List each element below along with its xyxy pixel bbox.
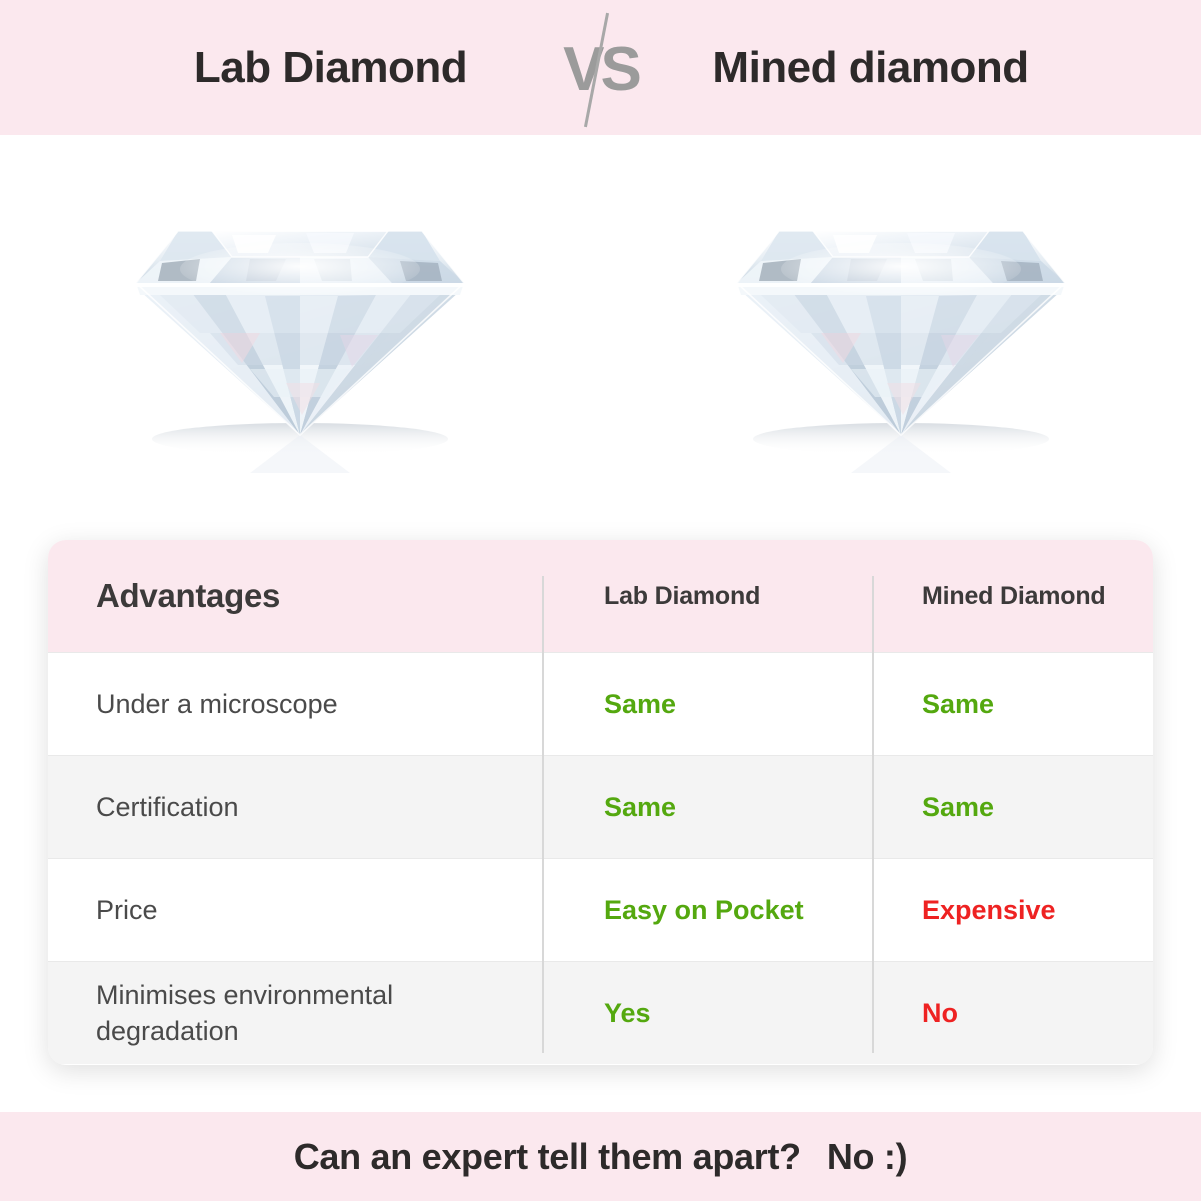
footer-answer: No :) xyxy=(827,1136,907,1178)
lab-value: Same xyxy=(604,689,676,719)
header-band: Lab Diamond VS Mined diamond xyxy=(0,0,1201,135)
feature-label: Price xyxy=(96,895,158,925)
mined-diamond-photo xyxy=(701,183,1101,483)
header-cell-mined: Mined Diamond xyxy=(872,582,1153,611)
infographic-page: Lab Diamond VS Mined diamond xyxy=(0,0,1201,1201)
comparison-table: Advantages Lab Diamond Mined Diamond Und… xyxy=(48,540,1153,1065)
row-mined-value-cell: Same xyxy=(872,792,1153,823)
table-row: Minimises environmental degradation Yes … xyxy=(48,961,1153,1064)
mined-value: Expensive xyxy=(922,895,1056,925)
row-feature-cell: Price xyxy=(48,892,542,928)
header-label-mined-diamond: Mined Diamond xyxy=(922,582,1106,610)
header-cell-lab: Lab Diamond xyxy=(542,582,872,611)
row-mined-value-cell: No xyxy=(872,998,1153,1029)
feature-label: Certification xyxy=(96,792,239,822)
row-mined-value-cell: Expensive xyxy=(872,895,1153,926)
row-feature-cell: Under a microscope xyxy=(48,686,542,722)
versus-badge: VS xyxy=(541,0,661,135)
feature-label: Minimises environmental degradation xyxy=(96,980,393,1046)
table-row: Certification Same Same xyxy=(48,755,1153,858)
header-title-lab: Lab Diamond xyxy=(121,43,541,93)
header-title-mined: Mined diamond xyxy=(661,43,1081,93)
row-lab-value-cell: Same xyxy=(542,792,872,823)
table-header-row: Advantages Lab Diamond Mined Diamond xyxy=(48,540,1153,652)
row-feature-cell: Certification xyxy=(48,789,542,825)
comparison-table-card: Advantages Lab Diamond Mined Diamond Und… xyxy=(48,540,1153,1065)
lab-diamond-image-cell xyxy=(85,163,515,503)
header-label-lab-diamond: Lab Diamond xyxy=(604,582,760,610)
mined-value: Same xyxy=(922,792,994,822)
mined-value: Same xyxy=(922,689,994,719)
row-lab-value-cell: Easy on Pocket xyxy=(542,895,872,926)
header-cell-advantages: Advantages xyxy=(48,577,542,615)
row-mined-value-cell: Same xyxy=(872,689,1153,720)
mined-diamond-image-cell xyxy=(686,163,1116,503)
row-feature-cell: Minimises environmental degradation xyxy=(48,977,542,1050)
table-row: Under a microscope Same Same xyxy=(48,652,1153,755)
diamond-comparison-images xyxy=(0,135,1201,530)
row-lab-value-cell: Yes xyxy=(542,998,872,1029)
table-row: Price Easy on Pocket Expensive xyxy=(48,858,1153,961)
header-label-advantages: Advantages xyxy=(96,577,280,614)
feature-label: Under a microscope xyxy=(96,689,338,719)
lab-value: Easy on Pocket xyxy=(604,895,804,925)
lab-value: Same xyxy=(604,792,676,822)
lab-diamond-photo xyxy=(100,183,500,483)
row-lab-value-cell: Same xyxy=(542,689,872,720)
footer-band: Can an expert tell them apart? No :) xyxy=(0,1112,1201,1201)
footer-question: Can an expert tell them apart? xyxy=(294,1136,801,1178)
lab-value: Yes xyxy=(604,998,651,1028)
mined-value: No xyxy=(922,998,958,1028)
